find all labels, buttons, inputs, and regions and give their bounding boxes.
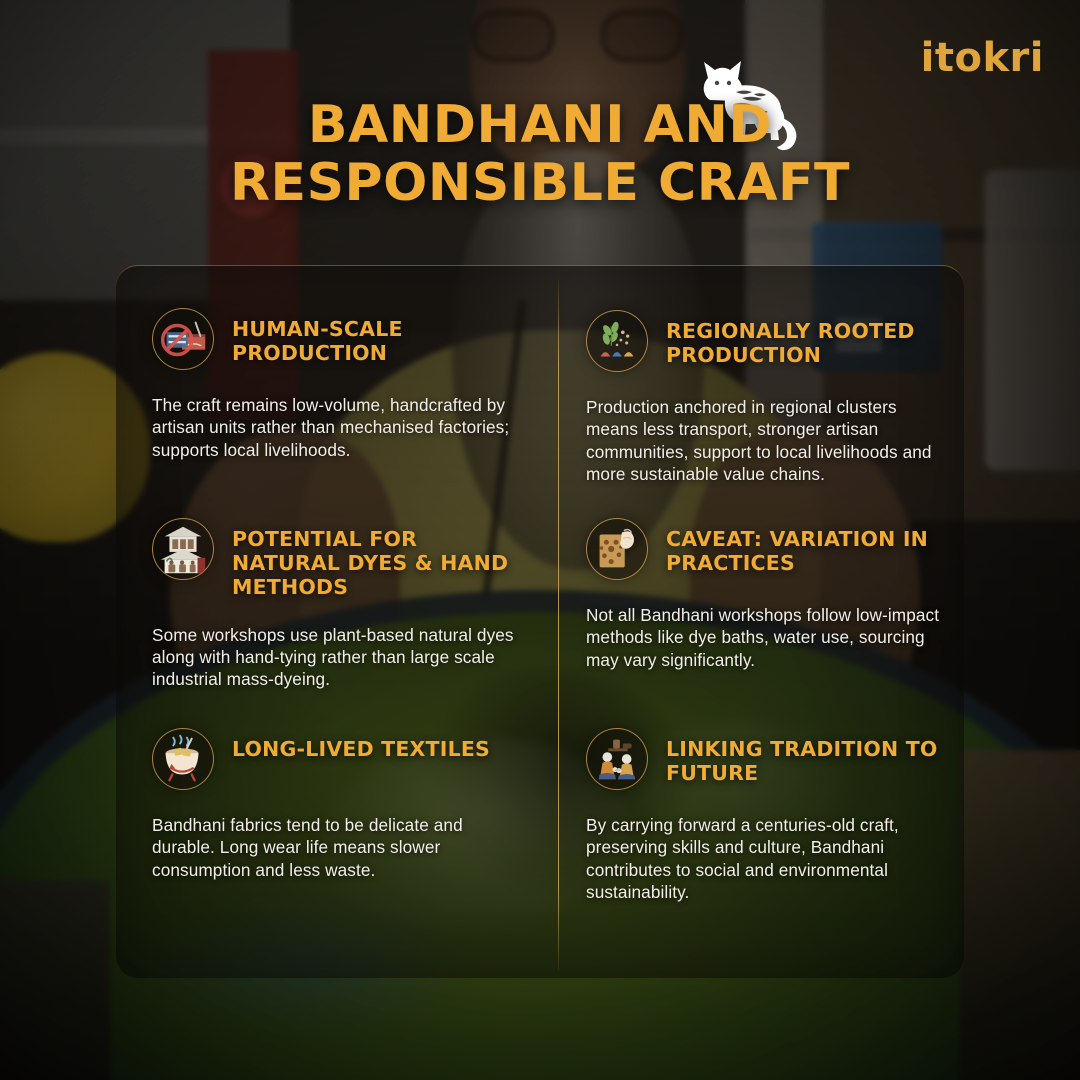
card-title: LONG-LIVED TEXTILES [232,728,490,761]
card-long-lived-textiles: LONG-LIVED TEXTILES Bandhani fabrics ten… [116,686,558,916]
title-line-1: BANDHANI AND [308,95,772,155]
card-body: Some workshops use plant-based natural d… [152,624,524,691]
card-caveat-variation-in-practices: CAVEAT: VARIATION IN PRACTICES Not all B… [558,476,964,686]
card-title: HUMAN-SCALE PRODUCTION [232,308,524,365]
no-machine-icon [152,308,214,370]
card-title: REGIONALLY ROOTED PRODUCTION [666,310,944,367]
card-title: CAVEAT: VARIATION IN PRACTICES [666,518,944,575]
title-line-2: RESPONSIBLE CRAFT [0,154,1080,212]
steaming-dye-pot-icon [152,728,214,790]
workshop-building-icon [152,518,214,580]
card-body: The craft remains low-volume, handcrafte… [152,394,524,461]
two-artisans-icon [586,728,648,790]
card-linking-tradition-to-future: LINKING TRADITION TO FUTURE By carrying … [558,686,964,916]
card-regionally-rooted-production: REGIONALLY ROOTED PRODUCTION Production … [558,266,964,476]
itokri-logo[interactable]: itokri [921,38,1044,78]
card-human-scale-production: HUMAN-SCALE PRODUCTION The craft remains… [116,266,558,476]
card-body: Production anchored in regional clusters… [586,396,944,485]
card-body: By carrying forward a centuries-old craf… [586,814,944,903]
card-title: LINKING TRADITION TO FUTURE [666,728,944,785]
card-body: Not all Bandhani workshops follow low-im… [586,604,944,671]
plants-and-pigments-icon [586,310,648,372]
page-title: BANDHANI AND RESPONSIBLE CRAFT [0,96,1080,212]
hand-holding-fabric-icon [586,518,648,580]
card-natural-dyes-hand-methods: POTENTIAL FOR NATURAL DYES & HAND METHOD… [116,476,558,686]
card-body: Bandhani fabrics tend to be delicate and… [152,814,524,881]
content-panel: HUMAN-SCALE PRODUCTION The craft remains… [116,265,964,978]
itokri-logo-text: itokri [921,35,1044,81]
card-title: POTENTIAL FOR NATURAL DYES & HAND METHOD… [232,518,524,600]
infographic-canvas: itokri [0,0,1080,1080]
